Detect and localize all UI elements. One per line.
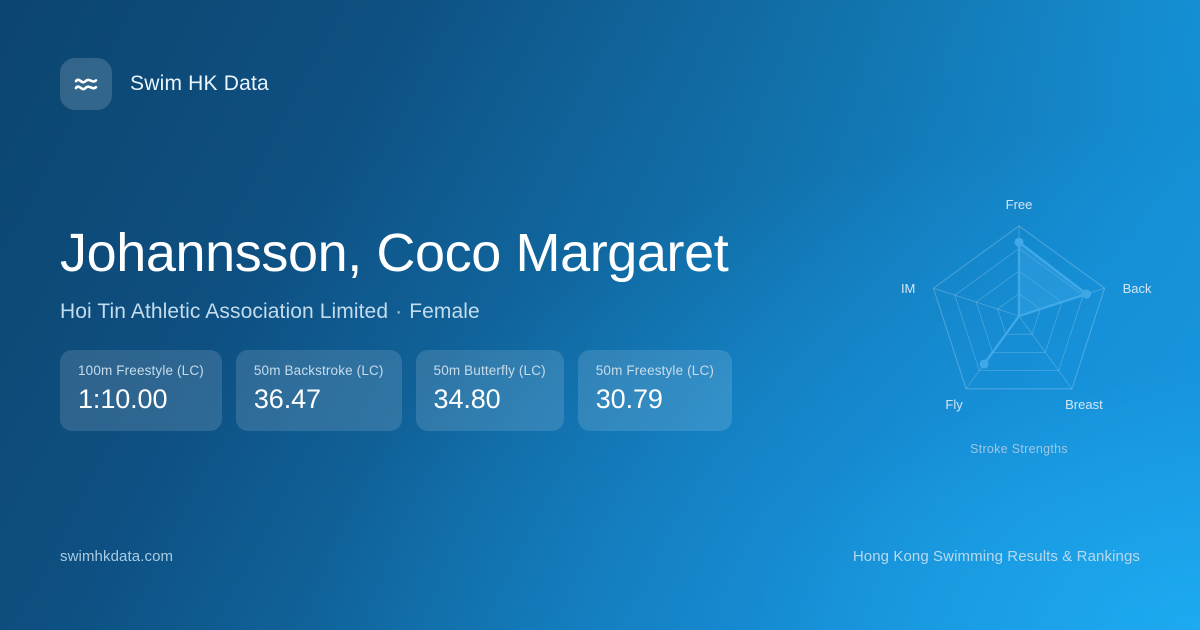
radar-axis-label-free: Free [1006,197,1033,212]
radar-data-point [1082,290,1091,299]
stat-card[interactable]: 50m Butterfly (LC) 34.80 [416,350,564,431]
stat-card-label: 50m Freestyle (LC) [596,363,714,378]
stat-card-value: 34.80 [434,383,546,415]
radar-axis-label-back: Back [1123,281,1152,296]
athlete-gender: Female [409,300,480,323]
stat-card-value: 1:10.00 [78,383,204,415]
athlete-meta: Hoi Tin Athletic Association Limited·Fem… [60,300,880,324]
stat-card-label: 50m Butterfly (LC) [434,363,546,378]
stat-card-list: 100m Freestyle (LC) 1:10.00 50m Backstro… [60,350,732,431]
stat-card-label: 50m Backstroke (LC) [254,363,384,378]
radar-axis-label-breast: Breast [1065,397,1103,412]
stat-card-value: 30.79 [596,383,714,415]
radar-spoke [933,288,1019,316]
radar-data-point [980,360,989,369]
stat-card-label: 100m Freestyle (LC) [78,363,204,378]
radar-data-polygon [984,242,1087,364]
page-title: Johannsson, Coco Margaret [60,222,880,284]
radar-data-point [1015,238,1024,247]
athlete-club: Hoi Tin Athletic Association Limited [60,300,388,323]
brand-name: Swim HK Data [130,72,269,96]
radar-chart-caption: Stroke Strengths [869,442,1169,456]
share-card-canvas: Swim HK Data Johannsson, Coco Margaret H… [0,0,1200,630]
app-logo-tile [60,58,112,110]
stat-card[interactable]: 50m Backstroke (LC) 36.47 [236,350,402,431]
brand-header: Swim HK Data [60,58,269,110]
radar-axis-label-fly: Fly [945,397,963,412]
athlete-hero: Johannsson, Coco Margaret Hoi Tin Athlet… [60,222,880,324]
wave-icon [71,69,101,99]
radar-axis-label-im: IM [901,281,915,296]
radar-svg: FreeBackBreastFlyIM [869,170,1169,470]
meta-separator: · [388,300,409,323]
footer-tagline: Hong Kong Swimming Results & Rankings [853,548,1140,565]
footer-site-url: swimhkdata.com [60,548,173,565]
stat-card[interactable]: 100m Freestyle (LC) 1:10.00 [60,350,222,431]
stat-card-value: 36.47 [254,383,384,415]
stroke-strengths-radar-chart: FreeBackBreastFlyIM Stroke Strengths [869,170,1169,470]
stat-card[interactable]: 50m Freestyle (LC) 30.79 [578,350,732,431]
